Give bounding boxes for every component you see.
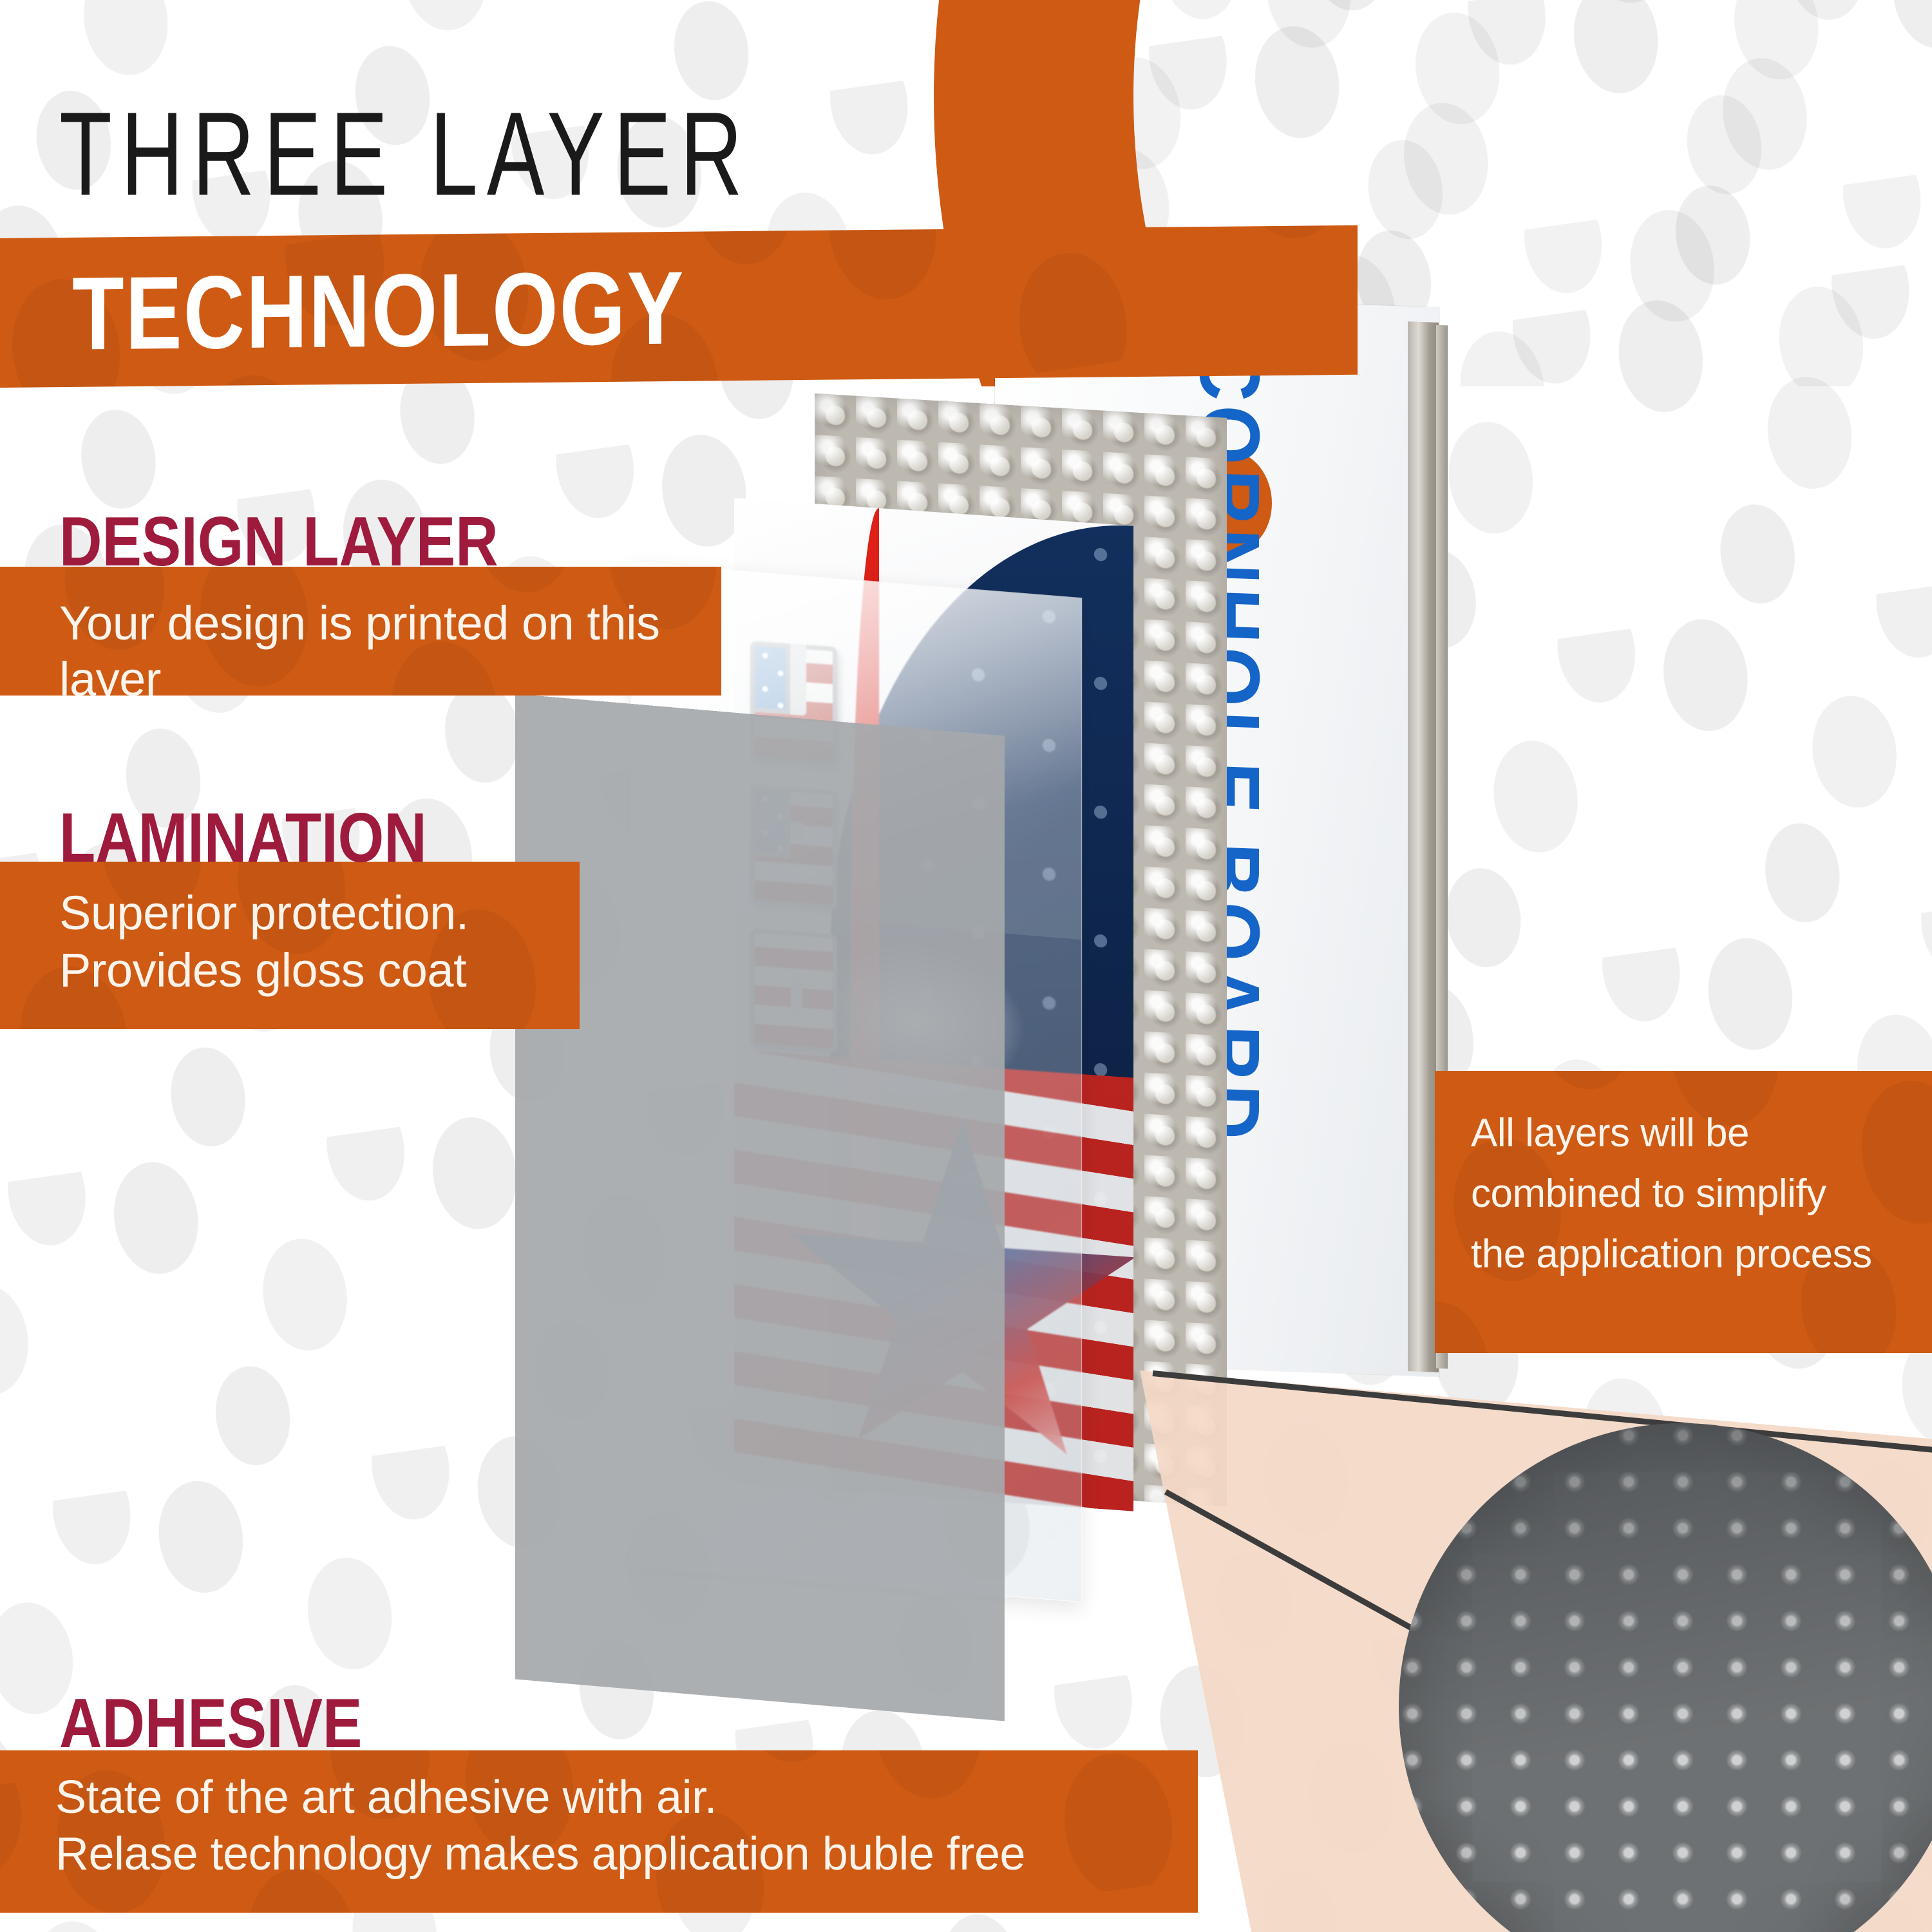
title-technology-banner: TECHNOLOGY	[0, 225, 1358, 388]
section-banner-lamination: Superior protection. Provides gloss coat	[0, 862, 580, 1029]
section-banner-adhesive: State of the art adhesive with air. Rela…	[0, 1750, 1198, 1913]
magnifier-callout-cone	[1140, 1359, 1932, 1932]
section-banner-design-layer: Your design is printed on this layer	[0, 567, 721, 696]
artwork-red-wave	[851, 506, 879, 1493]
artwork-usa-lettering	[750, 641, 837, 1077]
section-body-design-layer: Your design is printed on this layer	[59, 595, 721, 696]
infographic-canvas: CORNHOLE BOARD THREE LAYER	[0, 0, 1932, 1932]
side-note-banner: All layers will be combined to simplify …	[1435, 1071, 1932, 1353]
cornhole-board-label: CORNHOLE BOARD	[1170, 344, 1278, 1314]
page-title-line2: TECHNOLOGY	[72, 249, 685, 373]
cornhole-board-edge	[1408, 321, 1439, 1372]
magnifier-callout-line-top	[1153, 1370, 1932, 1455]
section-heading-design-layer: DESIGN LAYER	[59, 502, 498, 582]
section-body-lamination: Superior protection. Provides gloss coat	[59, 885, 469, 999]
adhesive-layer-sheet	[815, 393, 1227, 1506]
design-layer-sheet	[734, 498, 1133, 1511]
page-title-line1: THREE LAYER	[59, 95, 752, 214]
backing-grey-sheet	[515, 694, 1005, 1721]
lamination-layer-sheet	[631, 562, 1082, 1602]
artwork-flag-stripes	[734, 1050, 1133, 1511]
section-heading-lamination: LAMINATION	[59, 799, 427, 878]
artwork-gloss-glow	[806, 936, 1025, 1106]
magnifier-callout-line-bottom	[1164, 1490, 1882, 1891]
cornhole-board-hole	[1188, 450, 1272, 554]
side-note-body: All layers will be combined to simplify …	[1471, 1103, 1872, 1285]
artwork-star	[782, 1106, 1133, 1492]
artwork-navy-starfield	[830, 505, 1133, 1511]
usa-letter-s	[750, 784, 837, 909]
section-heading-adhesive: ADHESIVE	[59, 1684, 362, 1764]
section-body-adhesive: State of the art adhesive with air. Rela…	[55, 1770, 1025, 1883]
cornhole-board	[995, 291, 1439, 1376]
usa-letter-a	[750, 928, 837, 1053]
adhesive-magnifier-circle	[1399, 1423, 1932, 1932]
usa-letter-u	[750, 641, 837, 766]
